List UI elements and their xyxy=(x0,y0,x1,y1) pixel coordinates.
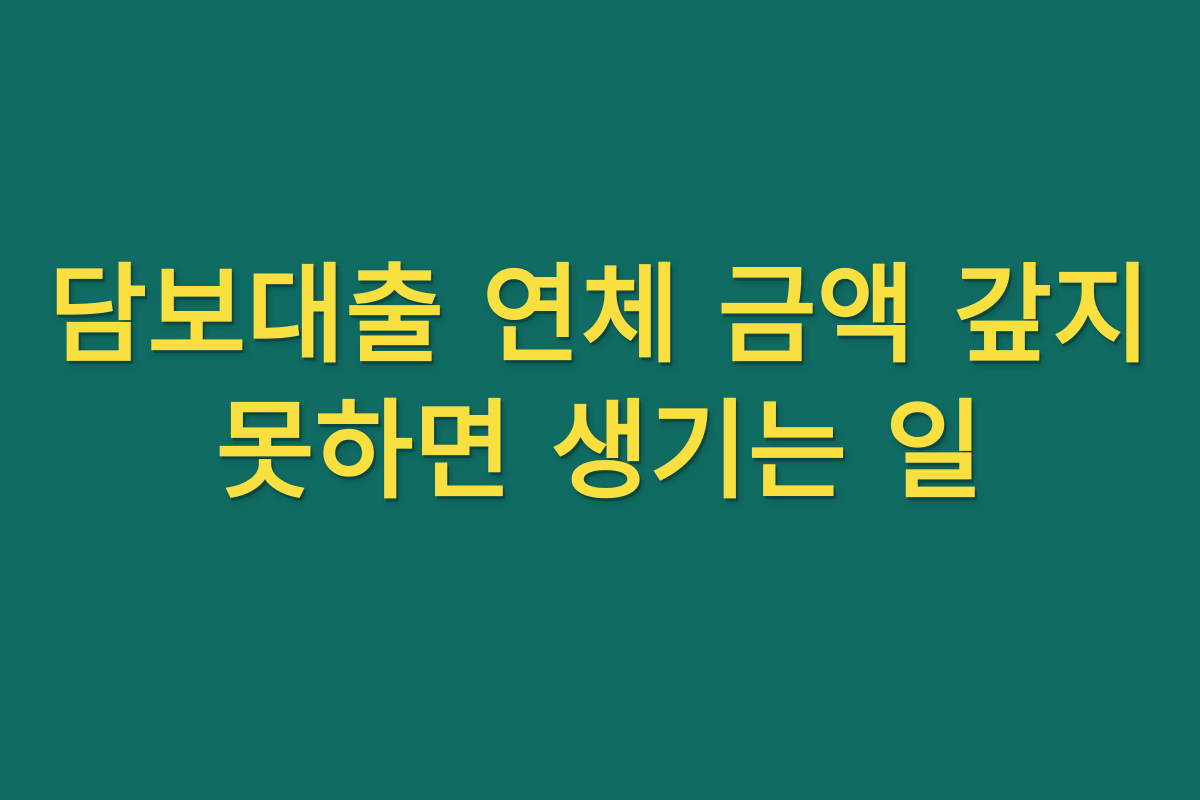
headline-line-1: 담보대출 연체 금액 갚지 xyxy=(40,248,1160,384)
poster-canvas: 담보대출 연체 금액 갚지 못하면 생기는 일 xyxy=(0,0,1200,800)
headline-line-2: 못하면 생기는 일 xyxy=(40,384,1160,520)
headline-block: 담보대출 연체 금액 갚지 못하면 생기는 일 xyxy=(0,248,1200,520)
